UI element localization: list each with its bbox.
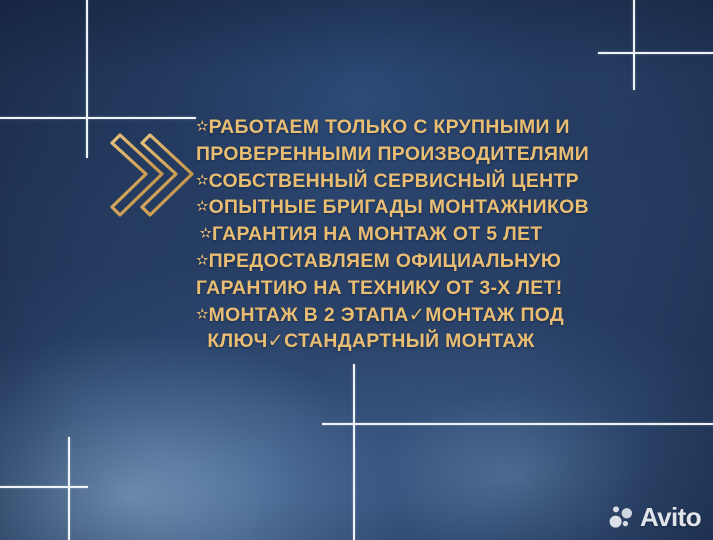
- feature-list: ✫РАБОТАЕМ ТОЛЬКО С КРУПНЫМИ И ПРОВЕРЕННЫ…: [196, 114, 546, 355]
- decor-line-top-right-horizontal: [598, 52, 713, 54]
- decor-line-bottom-center-horizontal: [322, 423, 713, 425]
- feature-line: ПРОВЕРЕННЫМИ ПРОИЗВОДИТЕЛЯМИ: [196, 141, 546, 168]
- feature-line: ✫ГАРАНТИЯ НА МОНТАЖ ОТ 5 ЛЕТ: [196, 221, 546, 248]
- avito-dots-logo-icon: [609, 504, 635, 530]
- decor-line-bottom-center-vertical: [353, 364, 355, 540]
- decor-line-top-left-vertical: [86, 0, 88, 158]
- bullet-star-icon: ✫: [196, 252, 209, 269]
- decor-line-bottom-left-horizontal: [0, 486, 88, 488]
- feature-line: ГАРАНТИЮ НА ТЕХНИКУ ОТ 3-Х ЛЕТ!: [196, 275, 546, 302]
- feature-line-text: СОБСТВЕННЫЙ СЕРВИСНЫЙ ЦЕНТР: [209, 170, 579, 192]
- feature-line: ✫ОПЫТНЫЕ БРИГАДЫ МОНТАЖНИКОВ: [196, 194, 546, 221]
- bullet-star-icon: ✫: [196, 198, 209, 215]
- feature-line-text: ГАРАНТИЮ НА ТЕХНИКУ ОТ 3-Х ЛЕТ!: [196, 277, 563, 299]
- feature-line-text: МОНТАЖ В 2 ЭТАПА✓МОНТАЖ ПОД: [209, 304, 565, 326]
- feature-line: КЛЮЧ✓СТАНДАРТНЫЙ МОНТАЖ: [196, 328, 546, 355]
- feature-line-text: КЛЮЧ✓СТАНДАРТНЫЙ МОНТАЖ: [207, 330, 534, 352]
- feature-line-text: ОПЫТНЫЕ БРИГАДЫ МОНТАЖНИКОВ: [209, 196, 589, 218]
- feature-line-text: РАБОТАЕМ ТОЛЬКО С КРУПНЫМИ И: [209, 116, 570, 138]
- double-chevron-icon: [100, 125, 200, 225]
- feature-line-text: ПРОВЕРЕННЫМИ ПРОИЗВОДИТЕЛЯМИ: [196, 143, 589, 165]
- feature-line: ✫РАБОТАЕМ ТОЛЬКО С КРУПНЫМИ И: [196, 114, 546, 141]
- bullet-star-icon: ✫: [196, 172, 209, 189]
- decor-line-bottom-left-vertical: [68, 437, 70, 540]
- bullet-star-icon: ✫: [196, 306, 209, 323]
- feature-line-text: ГАРАНТИЯ НА МОНТАЖ ОТ 5 ЛЕТ: [212, 223, 543, 245]
- bullet-star-icon: ✫: [196, 118, 209, 135]
- decor-line-top-right-vertical: [633, 0, 635, 90]
- feature-line: ✫МОНТАЖ В 2 ЭТАПА✓МОНТАЖ ПОД: [196, 302, 546, 329]
- feature-line: ✫СОБСТВЕННЫЙ СЕРВИСНЫЙ ЦЕНТР: [196, 168, 546, 195]
- feature-line-text: ПРЕДОСТАВЛЯЕМ ОФИЦИАЛЬНУЮ: [209, 250, 562, 272]
- bullet-star-icon: ✫: [199, 225, 212, 242]
- avito-watermark: Avito: [609, 504, 701, 530]
- decor-line-top-left-horizontal: [0, 117, 196, 119]
- avito-watermark-label: Avito: [640, 504, 701, 530]
- feature-line: ✫ПРЕДОСТАВЛЯЕМ ОФИЦИАЛЬНУЮ: [196, 248, 546, 275]
- poster-canvas: ✫РАБОТАЕМ ТОЛЬКО С КРУПНЫМИ И ПРОВЕРЕННЫ…: [0, 0, 713, 540]
